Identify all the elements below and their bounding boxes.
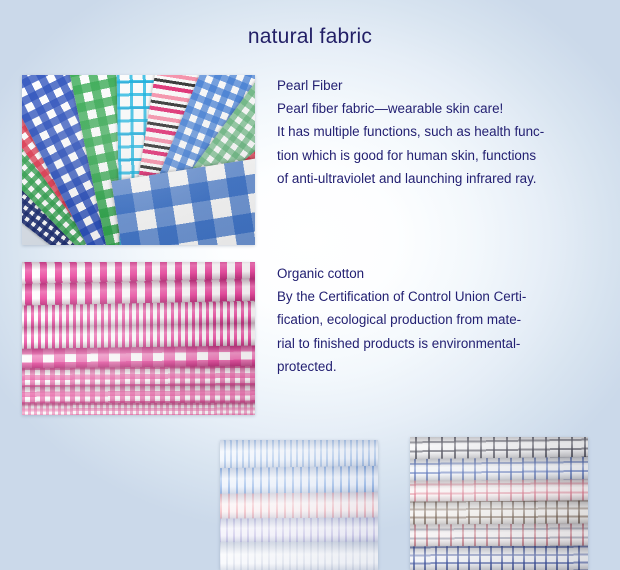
- plaid-bolts-canvas: [410, 437, 588, 570]
- bolt-pastel-lavender-stripe: [220, 517, 378, 544]
- bolt-plaid-navy-check: [410, 546, 588, 570]
- pink-striped-bolts-photo: [22, 262, 255, 415]
- bolt-pink-tiny-check: [22, 403, 255, 415]
- bolt-plaid-red-check: [410, 523, 588, 548]
- organic-cotton-heading: Organic cotton: [277, 262, 526, 285]
- bolt-pastel-white-stripe: [220, 542, 378, 570]
- pastel-bolts-canvas: [220, 440, 378, 570]
- bolt-pastel-pink-stripe: [220, 492, 378, 521]
- pearl-fiber-line-3: tion which is good for human skin, funct…: [277, 144, 544, 167]
- pastel-striped-bolts-photo: [220, 440, 378, 570]
- pearl-fiber-line-1: Pearl fiber fabric—wearable skin care!: [277, 97, 544, 120]
- organic-cotton-description: Organic cotton By the Certification of C…: [277, 262, 526, 378]
- pearl-fiber-description: Pearl Fiber Pearl fiber fabric—wearable …: [277, 74, 544, 190]
- pearl-fiber-heading: Pearl Fiber: [277, 74, 544, 97]
- organic-cotton-line-1: By the Certification of Control Union Ce…: [277, 285, 526, 308]
- gingham-fan-canvas: [22, 75, 255, 245]
- page-title: natural fabric: [0, 24, 620, 50]
- organic-cotton-line-4: protected.: [277, 355, 526, 378]
- pearl-fiber-line-2: It has multiple functions, such as healt…: [277, 120, 544, 143]
- pearl-fiber-line-4: of anti-ultraviolet and launching infrar…: [277, 167, 544, 190]
- plaid-checked-bolts-photo: [410, 437, 588, 570]
- organic-cotton-line-2: fication, ecological production from mat…: [277, 308, 526, 331]
- pink-bolts-canvas: [22, 262, 255, 415]
- page-root: natural fabric: [0, 0, 620, 570]
- organic-cotton-line-3: rial to finished products is environment…: [277, 332, 526, 355]
- gingham-swatch-fan-photo: [22, 75, 255, 245]
